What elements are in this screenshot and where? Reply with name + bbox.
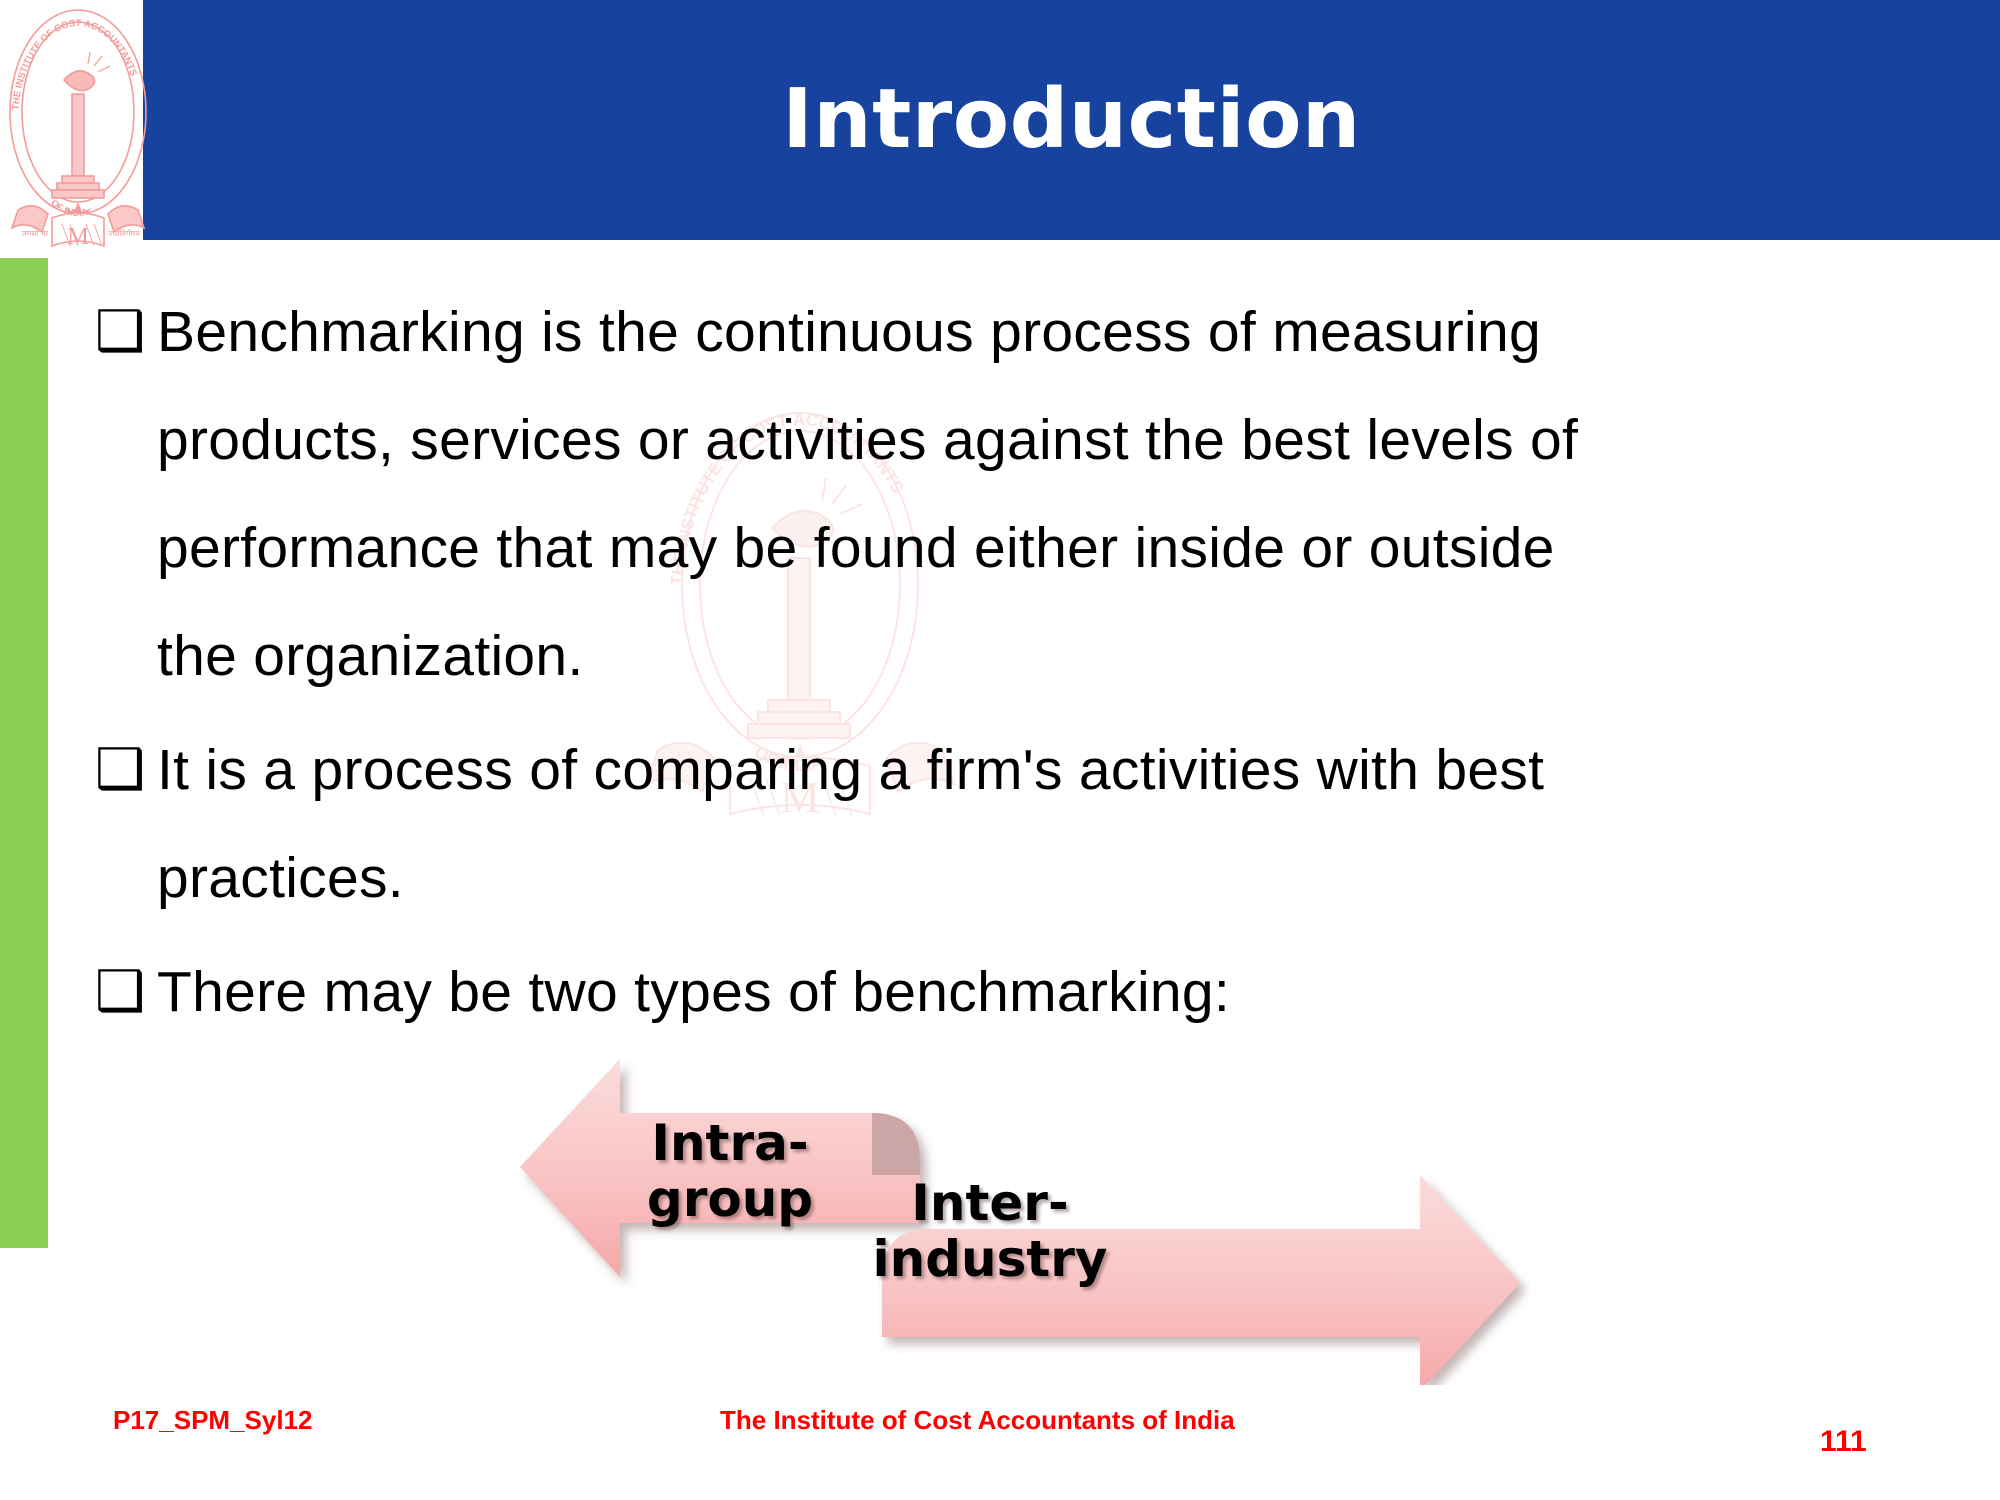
bullet-line: products, services or activities against…	[157, 386, 1935, 494]
svg-text:M: M	[67, 224, 88, 250]
bullet-text-1: It is a process of comparing a firm's ac…	[157, 716, 1935, 932]
header-banner: Introduction	[143, 0, 2000, 240]
bullet-line: performance that may be found either ins…	[157, 494, 1935, 602]
svg-text:ज्योतिर्गमय: ज्योतिर्गमय	[108, 228, 140, 238]
bullet-line: There may be two types of benchmarking:	[157, 938, 1935, 1046]
bullet-item: ❑ There may be two types of benchmarking…	[95, 938, 1935, 1046]
page-number: 111	[1820, 1425, 1867, 1459]
bullet-text-0: Benchmarking is the continuous process o…	[157, 278, 1935, 710]
footer-course-code: P17_SPM_Syl12	[113, 1405, 312, 1436]
svg-text:तमसो मा: तमसो मा	[22, 228, 49, 238]
left-accent-stripe	[0, 258, 48, 1248]
icai-logo-icon: M THE INSTITUTE OF COST ACCOUNTANTS OF I…	[2, 2, 154, 256]
bullet-text-2: There may be two types of benchmarking:	[157, 938, 1935, 1046]
benchmarking-types-diagram: Intra- group Inter- industry	[520, 1055, 1530, 1385]
bullet-line: practices.	[157, 824, 1935, 932]
bullet-item: ❑ It is a process of comparing a firm's …	[95, 716, 1935, 932]
bullet-square-icon: ❑	[95, 278, 157, 386]
bullet-square-icon: ❑	[95, 716, 157, 824]
page-title: Introduction	[143, 0, 2000, 240]
bullet-line: Benchmarking is the continuous process o…	[157, 278, 1935, 386]
bullet-line: It is a process of comparing a firm's ac…	[157, 716, 1935, 824]
intra-group-label: Intra- group	[580, 1115, 880, 1227]
bullet-square-icon: ❑	[95, 938, 157, 1046]
inter-industry-label: Inter- industry	[840, 1175, 1140, 1287]
bullet-line: the organization.	[157, 602, 1935, 710]
footer-institute-name: The Institute of Cost Accountants of Ind…	[720, 1405, 1235, 1436]
slide-body: ❑ Benchmarking is the continuous process…	[95, 278, 1935, 1052]
bullet-item: ❑ Benchmarking is the continuous process…	[95, 278, 1935, 710]
